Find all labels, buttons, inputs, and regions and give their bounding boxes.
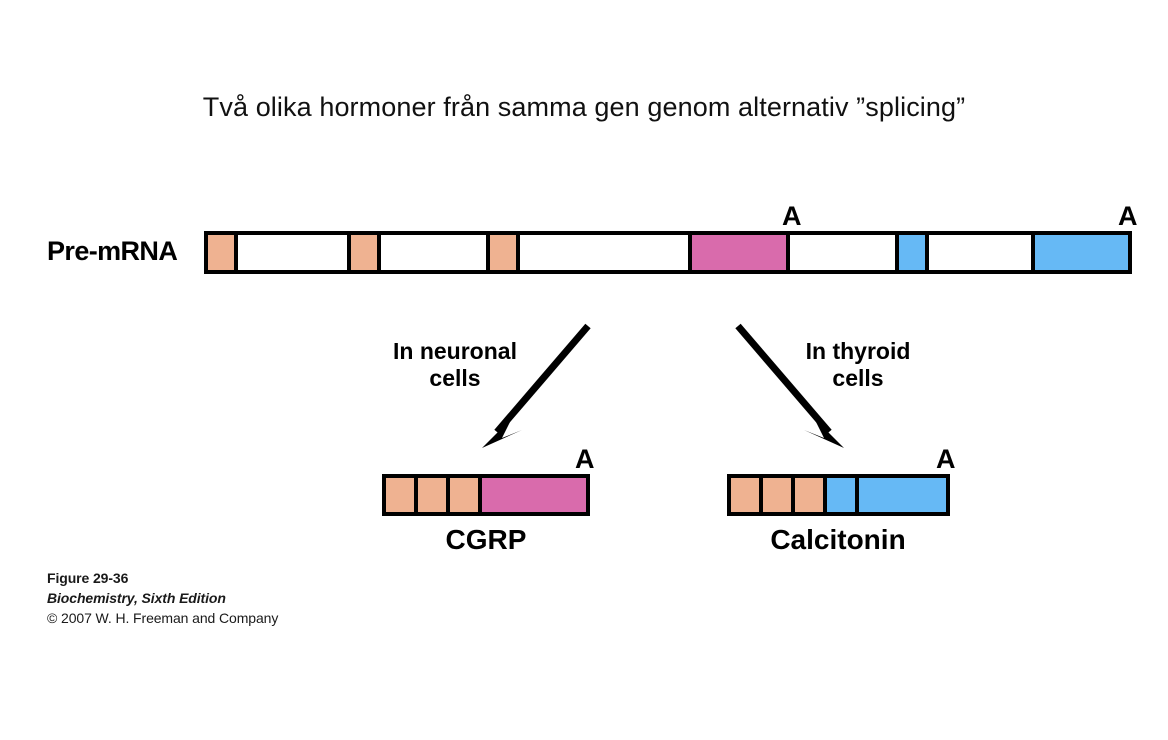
polya-marker-cgrp: A: [575, 446, 595, 473]
pre-mrna-intron-5: [929, 235, 1035, 270]
caption-figure-number: Figure 29-36: [47, 569, 278, 589]
calcitonin-mrna-bar: [727, 474, 950, 516]
caption-copyright: © 2007 W. H. Freeman and Company: [47, 609, 278, 629]
cgrp-mrna-bar: [382, 474, 590, 516]
calcitonin-exon-1: [731, 478, 763, 512]
cgrp-exon-4: [482, 478, 586, 512]
pre-mrna-exon-4-cgrp: [692, 235, 790, 270]
pre-mrna-intron-4: [790, 235, 899, 270]
product-label-calcitonin: Calcitonin: [718, 524, 958, 556]
pre-mrna-label: Pre-mRNA: [47, 236, 177, 267]
pre-mrna-bar: [204, 231, 1132, 274]
cgrp-exon-2: [418, 478, 450, 512]
pre-mrna-exon-6-calcitonin: [1035, 235, 1128, 270]
calcitonin-exon-3: [795, 478, 827, 512]
pre-mrna-intron-1: [238, 235, 351, 270]
cgrp-exon-3: [450, 478, 482, 512]
calcitonin-exon-5: [827, 478, 859, 512]
pre-mrna-intron-2: [381, 235, 490, 270]
product-label-cgrp: CGRP: [386, 524, 586, 556]
pre-mrna-exon-5-calcitonin: [899, 235, 929, 270]
pre-mrna-intron-3: [520, 235, 692, 270]
polya-site-cgrp-marker: A: [782, 203, 802, 230]
page-title: Två olika hormoner från samma gen genom …: [0, 92, 1168, 123]
figure-caption: Figure 29-36 Biochemistry, Sixth Edition…: [47, 569, 278, 629]
polya-marker-calcitonin: A: [936, 446, 956, 473]
cgrp-exon-1: [386, 478, 418, 512]
calcitonin-exon-2: [763, 478, 795, 512]
calcitonin-exon-6: [859, 478, 946, 512]
pre-mrna-exon-2: [351, 235, 381, 270]
polya-site-calcitonin-marker: A: [1118, 203, 1138, 230]
pre-mrna-exon-1: [208, 235, 238, 270]
pre-mrna-exon-3: [490, 235, 520, 270]
caption-book-title: Biochemistry, Sixth Edition: [47, 589, 278, 609]
arrow-to-calcitonin: [726, 320, 856, 450]
arrow-to-cgrp: [470, 320, 600, 450]
